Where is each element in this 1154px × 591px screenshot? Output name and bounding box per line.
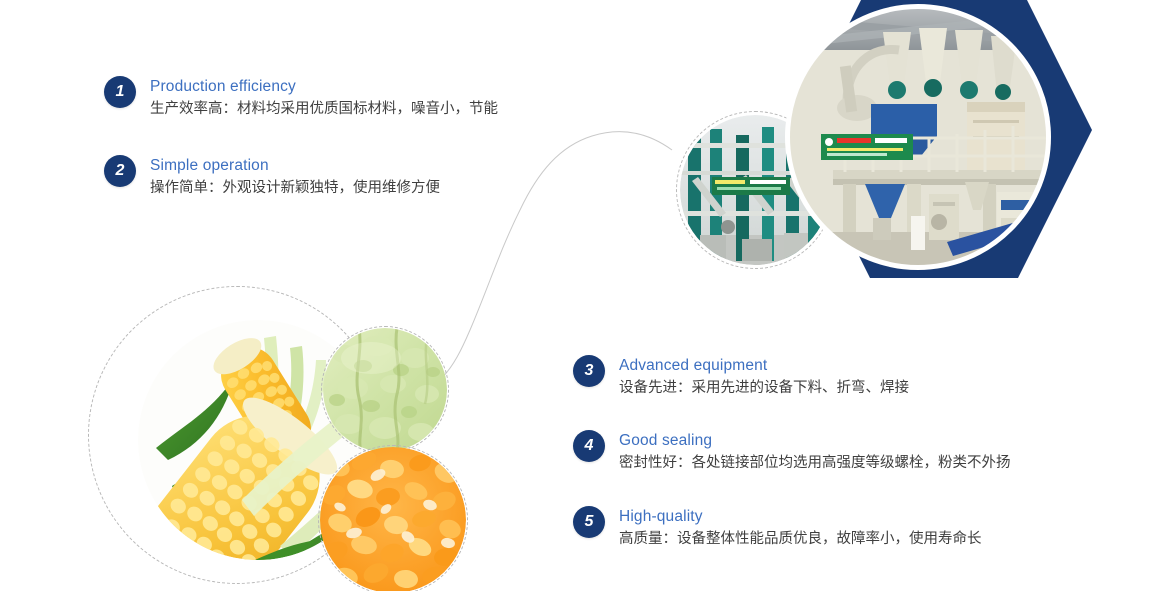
feature-badge-3: 3 xyxy=(573,355,605,387)
feature-title-5: High-quality xyxy=(619,507,982,527)
feature-title-3: Advanced equipment xyxy=(619,356,909,376)
feature-text-1: Production efficiency 生产效率高：材料均采用优质国标材料，… xyxy=(150,76,498,120)
feature-description-5: 高质量：设备整体性能品质优良，故障率小，使用寿命长 xyxy=(619,528,982,550)
product-advantages-infographic: 1 Production efficiency 生产效率高：材料均采用优质国标材… xyxy=(0,0,1154,591)
corn-grits-photo xyxy=(320,447,466,591)
feature-title-1: Production efficiency xyxy=(150,77,498,97)
feature-description-4: 密封性好：各处链接部位均选用高强度等级螺栓，粉类不外扬 xyxy=(619,452,1011,474)
feature-title-2: Simple operation xyxy=(150,156,440,176)
feature-text-3: Advanced equipment 设备先进：采用先进的设备下料、折弯、焊接 xyxy=(619,355,909,399)
feature-description-1: 生产效率高：材料均采用优质国标材料，噪音小，节能 xyxy=(150,98,498,120)
feature-text-4: Good sealing 密封性好：各处链接部位均选用高强度等级螺栓，粉类不外扬 xyxy=(619,430,1011,474)
feature-title-4: Good sealing xyxy=(619,431,1011,451)
feature-description-3: 设备先进：采用先进的设备下料、折弯、焊接 xyxy=(619,377,909,399)
feature-badge-5: 5 xyxy=(573,506,605,538)
feature-badge-4: 4 xyxy=(573,430,605,462)
feature-description-2: 操作简单：外观设计新颖独特，使用维修方便 xyxy=(150,177,440,199)
machinery-photo-main xyxy=(787,6,1049,268)
feature-text-5: High-quality 高质量：设备整体性能品质优良，故障率小，使用寿命长 xyxy=(619,506,982,550)
feature-item-3[interactable]: 3 Advanced equipment 设备先进：采用先进的设备下料、折弯、焊… xyxy=(573,355,909,399)
corn-paste-photo xyxy=(323,328,447,452)
feature-badge-1: 1 xyxy=(104,76,136,108)
feature-text-2: Simple operation 操作简单：外观设计新颖独特，使用维修方便 xyxy=(150,155,440,199)
feature-badge-2: 2 xyxy=(104,155,136,187)
feature-item-1[interactable]: 1 Production efficiency 生产效率高：材料均采用优质国标材… xyxy=(104,76,498,120)
feature-item-2[interactable]: 2 Simple operation 操作简单：外观设计新颖独特，使用维修方便 xyxy=(104,155,440,199)
feature-item-4[interactable]: 4 Good sealing 密封性好：各处链接部位均选用高强度等级螺栓，粉类不… xyxy=(573,430,1011,474)
feature-item-5[interactable]: 5 High-quality 高质量：设备整体性能品质优良，故障率小，使用寿命长 xyxy=(573,506,982,550)
